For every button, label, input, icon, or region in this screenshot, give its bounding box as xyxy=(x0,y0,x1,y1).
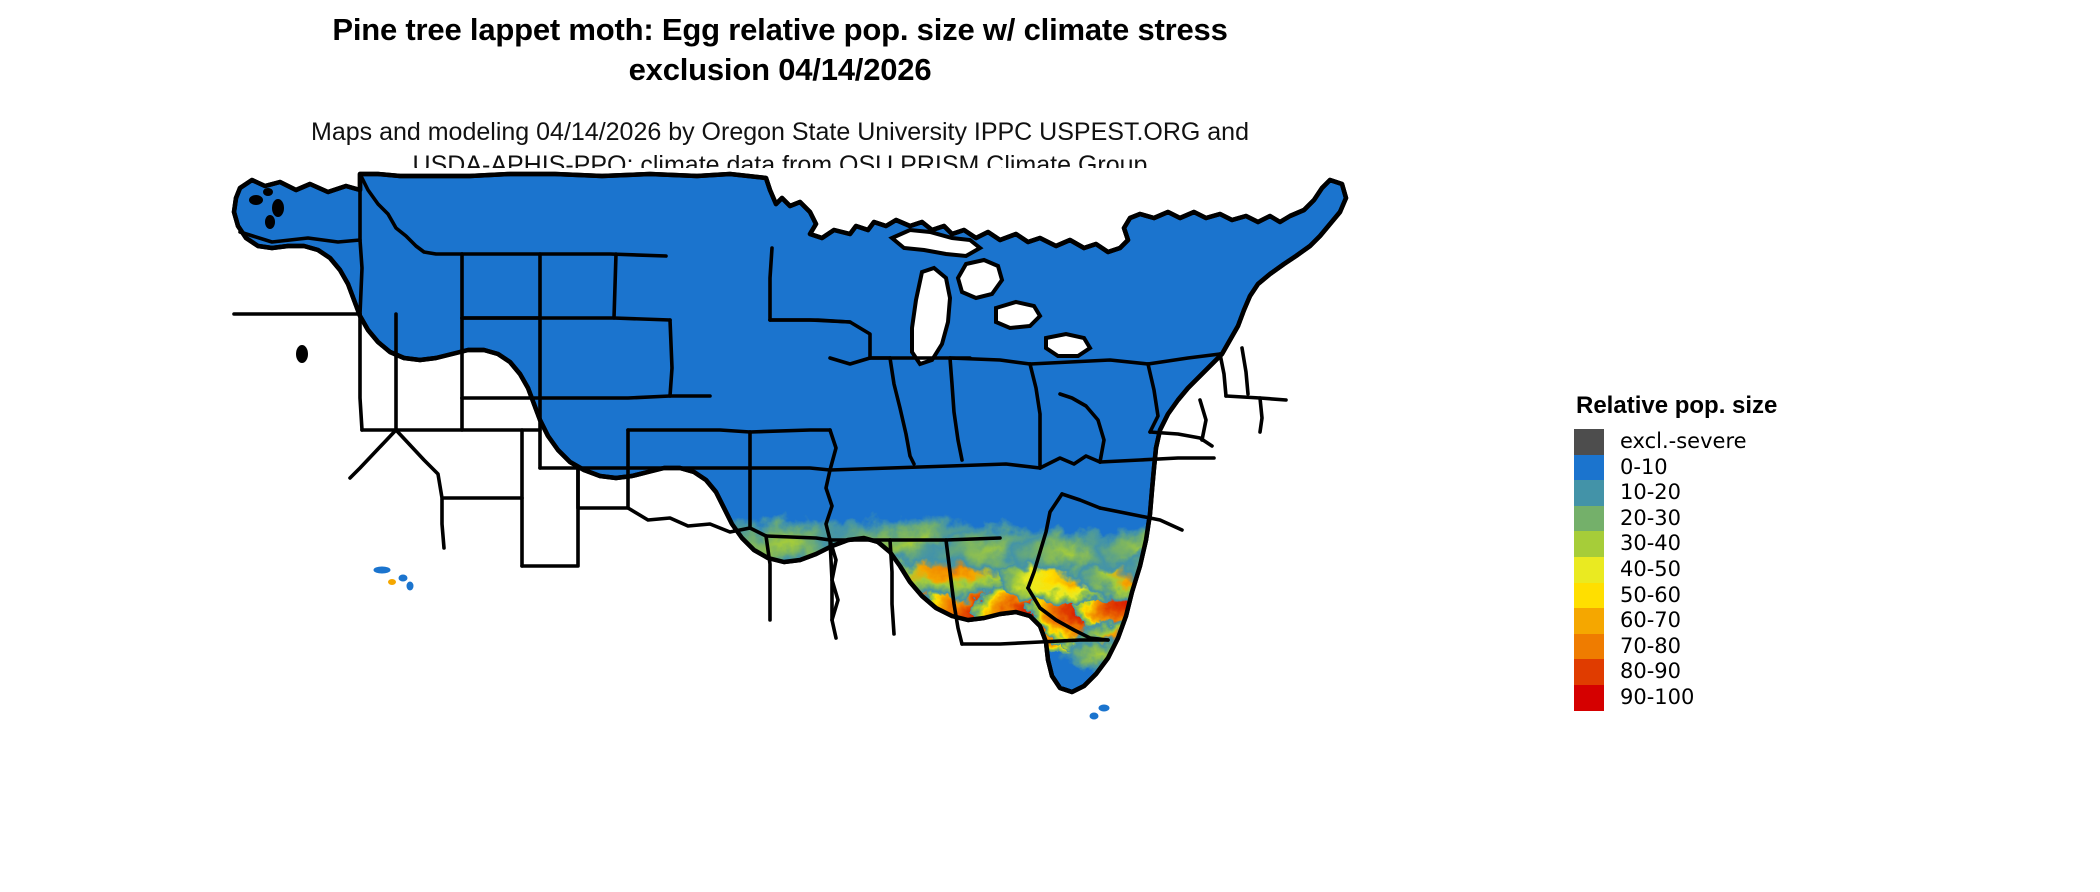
legend-label-0-10: 0-10 xyxy=(1620,455,1668,481)
legend-swatch-70-80 xyxy=(1574,634,1604,660)
legend-row-excl-severe[interactable]: excl.-severe xyxy=(1574,429,1874,455)
legend-row-60-70[interactable]: 60-70 xyxy=(1574,608,1874,634)
legend-label-50-60: 50-60 xyxy=(1620,583,1681,609)
us-choropleth-map xyxy=(210,168,1540,868)
legend-row-90-100[interactable]: 90-100 xyxy=(1574,685,1874,711)
map-legend: Relative pop. size excl.-severe 0-10 10-… xyxy=(1574,392,1874,711)
legend-row-80-90[interactable]: 80-90 xyxy=(1574,659,1874,685)
title-line-1: Pine tree lappet moth: Egg relative pop.… xyxy=(0,14,1560,45)
legend-label-40-50: 40-50 xyxy=(1620,557,1681,583)
legend-row-50-60[interactable]: 50-60 xyxy=(1574,583,1874,609)
legend-swatch-10-20 xyxy=(1574,480,1604,506)
legend-label-80-90: 80-90 xyxy=(1620,659,1681,685)
legend-label-90-100: 90-100 xyxy=(1620,685,1694,711)
legend-swatch-40-50 xyxy=(1574,557,1604,583)
legend-swatch-30-40 xyxy=(1574,531,1604,557)
map-figure: Pine tree lappet moth: Egg relative pop.… xyxy=(0,0,2100,892)
legend-row-40-50[interactable]: 40-50 xyxy=(1574,557,1874,583)
legend-row-70-80[interactable]: 70-80 xyxy=(1574,634,1874,660)
legend-swatch-90-100 xyxy=(1574,685,1604,711)
legend-swatch-50-60 xyxy=(1574,583,1604,609)
legend-label-20-30: 20-30 xyxy=(1620,506,1681,532)
legend-label-30-40: 30-40 xyxy=(1620,531,1681,557)
figure-title: Pine tree lappet moth: Egg relative pop.… xyxy=(0,14,1560,94)
legend-swatch-0-10 xyxy=(1574,455,1604,481)
legend-label-excl-severe: excl.-severe xyxy=(1620,429,1747,455)
legend-label-70-80: 70-80 xyxy=(1620,634,1681,660)
legend-swatch-20-30 xyxy=(1574,506,1604,532)
legend-title: Relative pop. size xyxy=(1576,392,1874,420)
legend-label-10-20: 10-20 xyxy=(1620,480,1681,506)
legend-row-30-40[interactable]: 30-40 xyxy=(1574,531,1874,557)
legend-swatch-excl-severe xyxy=(1574,429,1604,455)
subtitle-line-1: Maps and modeling 04/14/2026 by Oregon S… xyxy=(0,120,1560,145)
legend-label-60-70: 60-70 xyxy=(1620,608,1681,634)
legend-swatch-80-90 xyxy=(1574,659,1604,685)
map-svg xyxy=(210,168,1540,868)
legend-row-20-30[interactable]: 20-30 xyxy=(1574,506,1874,532)
legend-swatch-60-70 xyxy=(1574,608,1604,634)
catalina-island xyxy=(388,579,396,585)
title-line-2: exclusion 04/14/2026 xyxy=(0,54,1560,85)
legend-row-10-20[interactable]: 10-20 xyxy=(1574,480,1874,506)
legend-rows: excl.-severe 0-10 10-20 20-30 30-40 40-5 xyxy=(1574,429,1874,711)
legend-row-0-10[interactable]: 0-10 xyxy=(1574,455,1874,481)
